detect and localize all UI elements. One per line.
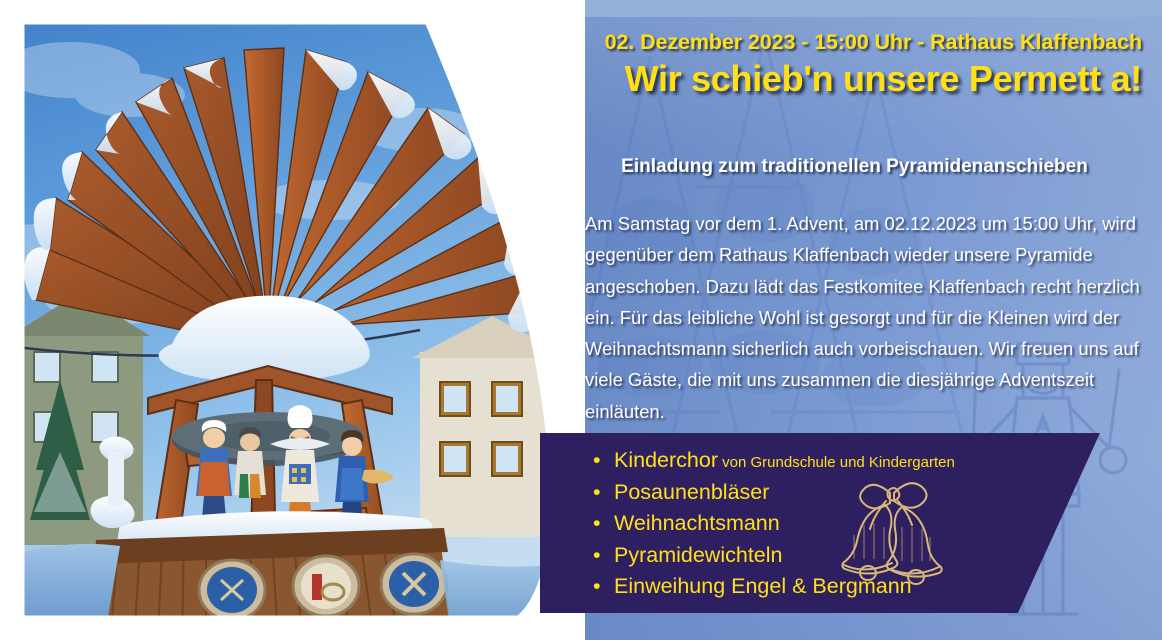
event-banner: 02. Dezember 2023 - 15:00 Uhr - Rathaus … bbox=[0, 0, 1162, 640]
list-item: •Weihnachtsmann bbox=[588, 509, 1058, 541]
bullet-icon: • bbox=[593, 541, 601, 571]
bullet-icon: • bbox=[593, 509, 601, 539]
program-item-label: Pyramidewichteln bbox=[614, 543, 782, 567]
event-kicker: 02. Dezember 2023 - 15:00 Uhr - Rathaus … bbox=[0, 30, 1142, 55]
program-item-note: von Grundschule und Kindergarten bbox=[718, 454, 955, 471]
bullet-icon: • bbox=[593, 572, 601, 602]
program-list: •Kinderchor von Grundschule und Kinderga… bbox=[588, 446, 1058, 604]
program-item-label: Kinderchor bbox=[614, 448, 718, 472]
headline-block: 02. Dezember 2023 - 15:00 Uhr - Rathaus … bbox=[0, 30, 1142, 101]
subheadline: Einladung zum traditionellen Pyramidenan… bbox=[567, 156, 1142, 178]
bullet-icon: • bbox=[593, 446, 601, 476]
program-item-label: Posaunenbläser bbox=[614, 480, 769, 504]
list-item: •Pyramidewichteln bbox=[588, 541, 1058, 573]
bullet-icon: • bbox=[593, 478, 601, 508]
list-item: •Kinderchor von Grundschule und Kinderga… bbox=[588, 446, 1058, 478]
body-copy: Am Samstag vor dem 1. Advent, am 02.12.2… bbox=[585, 208, 1142, 427]
page-title: Wir schieb'n unsere Permett a! bbox=[0, 57, 1142, 101]
christmas-bells-icon bbox=[828, 473, 963, 593]
program-item-label: Weihnachtsmann bbox=[614, 511, 780, 535]
list-item: •Posaunenbläser bbox=[588, 478, 1058, 510]
body-paragraph: Am Samstag vor dem 1. Advent, am 02.12.2… bbox=[585, 208, 1142, 427]
list-item: •Einweihung Engel & Bergmann bbox=[588, 572, 1058, 604]
